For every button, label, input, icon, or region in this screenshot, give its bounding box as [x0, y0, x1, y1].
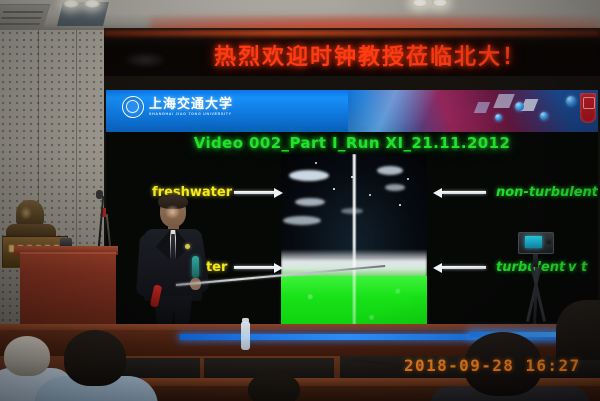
annotation-freshwater-arrow-icon [234, 191, 274, 194]
banner-sphere-icon [495, 114, 502, 121]
presenter [136, 196, 210, 326]
banner-sphere-icon [515, 102, 524, 111]
lecture-hall-photo: 热烈欢迎时钟教授莅临北大！ 上海交通大学 SHANGHAI JIAO TONG … [0, 0, 600, 401]
slide-header-banner: 上海交通大学 SHANGHAI JIAO TONG UNIVERSITY [106, 90, 598, 132]
presenter-face [165, 205, 180, 219]
led-banner-smudge [122, 52, 168, 68]
banner-card-shape [493, 94, 515, 108]
annotation-non-turbulent-arrow-icon [442, 191, 486, 194]
camera-timestamp: 2018-09-28 16:27 [404, 356, 581, 375]
video-jet-plume [353, 154, 356, 345]
university-crest-icon [580, 93, 596, 123]
handheld-microphone-icon [192, 256, 199, 278]
banner-sphere-icon [566, 96, 576, 106]
banner-sphere-icon [540, 112, 548, 120]
audience-member-head [64, 330, 126, 386]
camera-lcd-screen [525, 236, 542, 248]
banner-decorative-ribbon [348, 90, 598, 132]
presenter-badge-icon [185, 244, 190, 249]
sjtu-logo: 上海交通大学 SHANGHAI JIAO TONG UNIVERSITY [122, 96, 233, 118]
sjtu-seal-icon [122, 96, 144, 118]
annotation-v-t: v t [568, 260, 587, 275]
slide-title: Video 002_Part I_Run XI_21.11.2012 [106, 134, 598, 152]
video-camera-tripod [516, 232, 556, 332]
annotation-saltwater-arrow-icon [234, 266, 274, 269]
camera-body [518, 232, 554, 254]
annotation-non-turbulent: non-turbulent [496, 185, 598, 200]
sjtu-name-english: SHANGHAI JIAO TONG UNIVERSITY [149, 113, 233, 117]
banner-card-shape [474, 102, 490, 113]
audience-member-head [4, 336, 50, 376]
experiment-video-frame [281, 154, 427, 345]
audience-member-head [248, 372, 300, 401]
water-bottle [241, 322, 250, 350]
podium [20, 252, 116, 326]
led-welcome-banner: 热烈欢迎时钟教授莅临北大！ [104, 28, 600, 80]
bronze-bust-highlight [20, 206, 32, 220]
camera-lens-icon [545, 238, 553, 247]
annotation-turbulent-arrow-icon [442, 266, 486, 269]
sjtu-name-chinese: 上海交通大学 [149, 98, 233, 111]
led-banner-text: 热烈欢迎时钟教授莅临北大！ [214, 39, 526, 71]
